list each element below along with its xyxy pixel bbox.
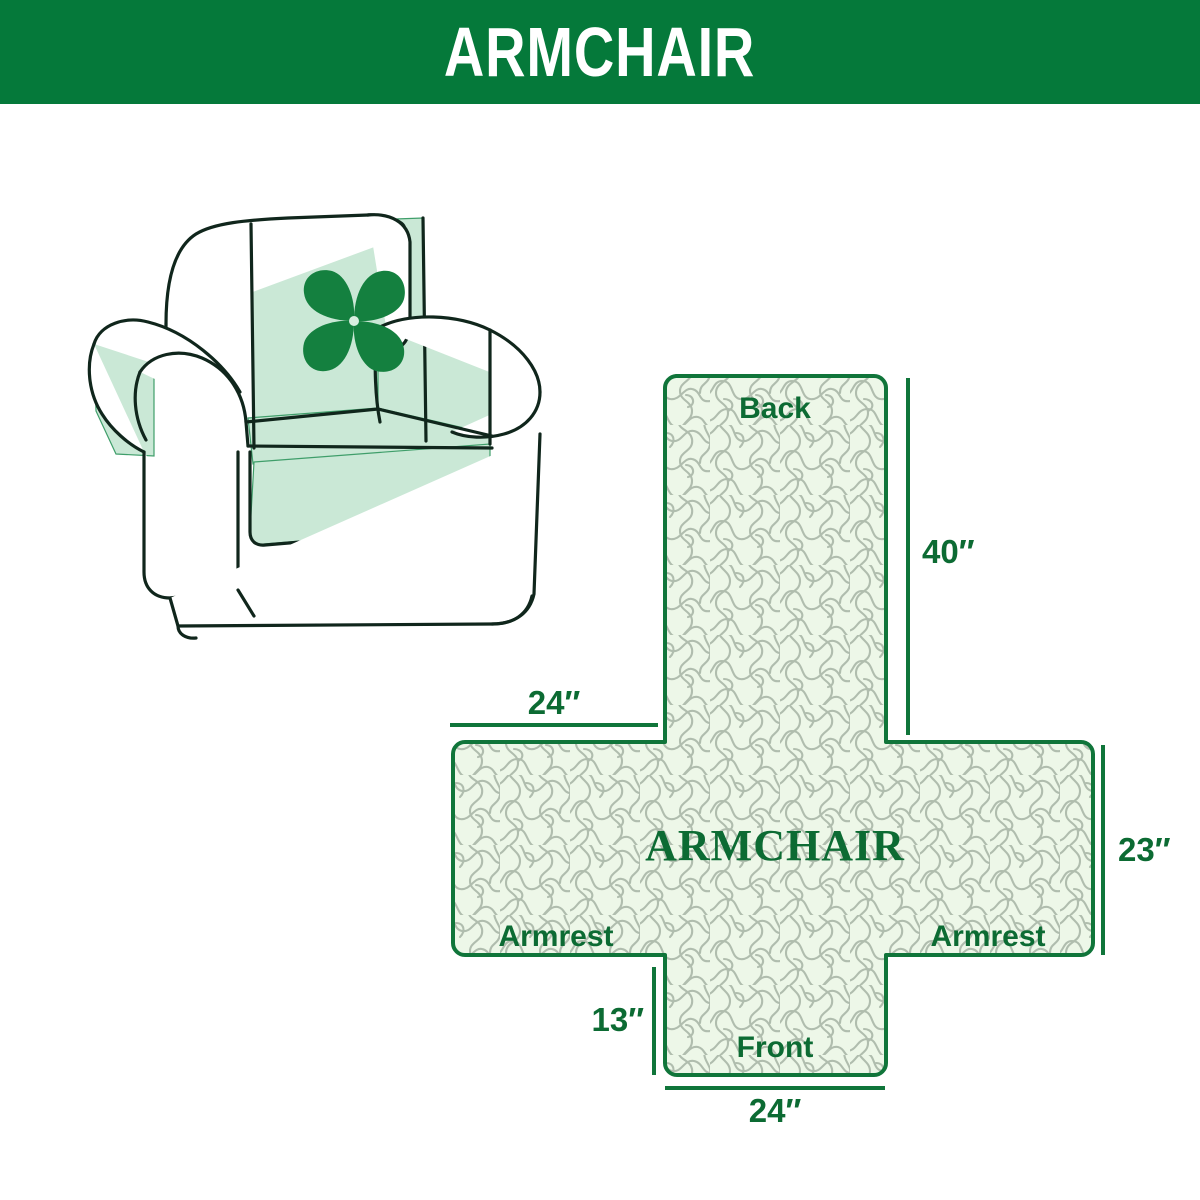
dimension-label-front-height: 13″: [591, 1001, 644, 1038]
header-banner: ARMCHAIR: [0, 0, 1200, 104]
panel-label-armrest-right: Armrest: [930, 920, 1045, 953]
size-guide-page: ARMCHAIR: [0, 0, 1200, 1200]
panel-label-front: Front: [737, 1031, 814, 1064]
panel-label-back: Back: [739, 392, 811, 425]
dimension-label-front-width: 24″: [749, 1092, 802, 1129]
panel-label-center: ARMCHAIR: [645, 821, 905, 870]
dimension-label-back-height: 40″: [922, 533, 975, 570]
slipcover-pattern-diagram: Back ARMCHAIR Armrest Armrest Front 40″ …: [430, 355, 1190, 1135]
page-title: ARMCHAIR: [444, 17, 755, 87]
dimension-label-back-width: 24″: [528, 684, 581, 721]
panel-label-armrest-left: Armrest: [498, 920, 613, 953]
dimension-label-armrest-height: 23″: [1118, 831, 1171, 868]
